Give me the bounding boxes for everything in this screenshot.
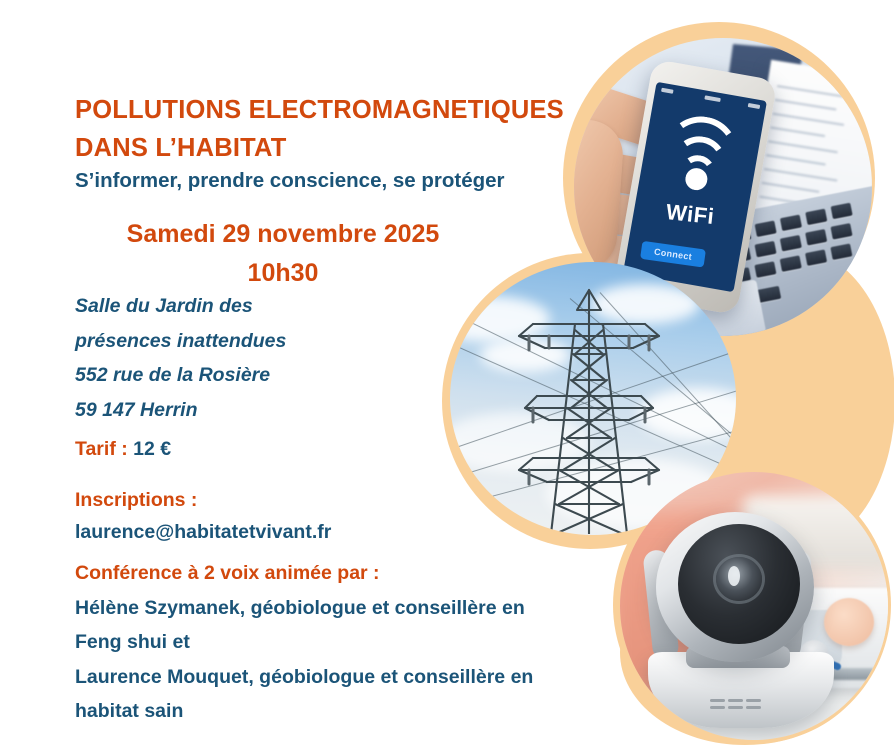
photo-baby-monitor [620, 472, 888, 740]
camera-face-panel [678, 524, 800, 644]
venue-address: Salle du Jardin des présences inattendue… [75, 289, 435, 427]
speaker-line-4: habitat sain [75, 694, 605, 729]
speakers-block: Conférence à 2 voix animée par : Hélène … [75, 556, 605, 729]
camera-head [656, 512, 814, 662]
phone-screen: WiFi Connect [623, 82, 767, 293]
baby-monitor-scene [620, 472, 888, 740]
camera-lens [716, 557, 762, 601]
tariff-block: Tarif : 12 € [75, 434, 171, 464]
venue-line-2: présences inattendues [75, 324, 435, 359]
venue-line-3: 552 rue de la Rosière [75, 358, 435, 393]
poster-title: POLLUTIONS ELECTROMAGNETIQUES DANS L’HAB… [75, 91, 575, 167]
text-column: POLLUTIONS ELECTROMAGNETIQUES DANS L’HAB… [75, 0, 615, 749]
title-line-2: DANS L’HABITAT [75, 129, 575, 167]
phone-status-bar [661, 87, 761, 111]
wifi-label: WiFi [665, 199, 716, 230]
title-line-1: POLLUTIONS ELECTROMAGNETIQUES [75, 91, 575, 129]
poster-canvas: WiFi Connect [0, 0, 894, 749]
tariff-label: Tarif : [75, 438, 133, 460]
registration-block: Inscriptions : laurence@habitatetvivant.… [75, 484, 495, 548]
speaker-line-1: Hélène Szymanek, géobiologue et conseill… [75, 591, 605, 626]
baby-head [824, 598, 874, 646]
event-time: 10h30 [75, 254, 491, 293]
speakers-heading: Conférence à 2 voix animée par : [75, 556, 605, 591]
venue-line-1: Salle du Jardin des [75, 289, 435, 324]
registration-email[interactable]: laurence@habitatetvivant.fr [75, 516, 495, 548]
speaker-line-3: Laurence Mouquet, géobiologue et conseil… [75, 660, 605, 695]
venue-line-4: 59 147 Herrin [75, 393, 435, 428]
wifi-icon [664, 137, 733, 195]
poster-subtitle: S’informer, prendre conscience, se proté… [75, 167, 595, 195]
event-day: Samedi 29 novembre 2025 [75, 215, 491, 254]
event-date-block: Samedi 29 novembre 2025 10h30 [75, 215, 491, 293]
registration-label: Inscriptions : [75, 484, 495, 516]
tariff-amount: 12 € [133, 438, 171, 460]
speaker-line-2: Feng shui et [75, 625, 605, 660]
camera-speaker-vent [710, 699, 772, 713]
